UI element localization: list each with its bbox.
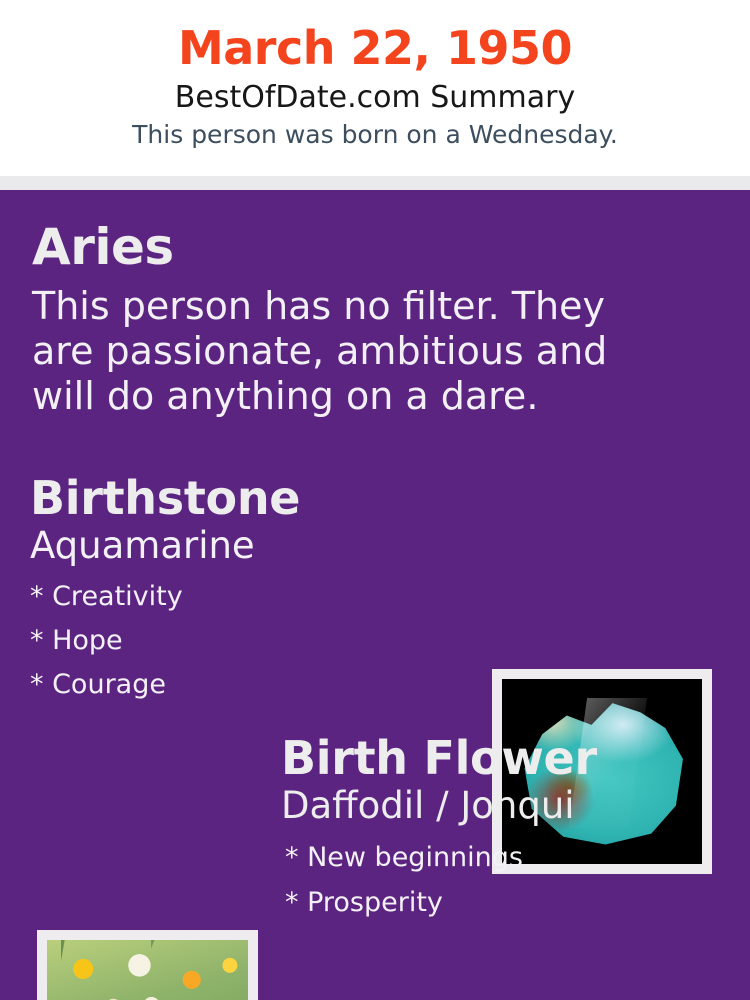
birth-day-note: This person was born on a Wednesday. — [0, 114, 750, 149]
birth-flower-title: Birth Flower — [281, 735, 731, 781]
page-title-date: March 22, 1950 — [0, 0, 750, 72]
daffodil-stems — [47, 940, 248, 1000]
birth-flower-image — [47, 940, 248, 1000]
list-item: * New beginnings — [281, 826, 731, 871]
birth-flower-trait-list: * New beginnings * Prosperity — [281, 826, 731, 916]
list-item: * Hope — [30, 610, 480, 654]
birthstone-section: Birthstone Aquamarine * Creativity * Hop… — [30, 475, 480, 698]
list-item: * Courage — [30, 654, 480, 698]
birthstone-title: Birthstone — [30, 475, 480, 521]
birth-flower-name: Daffodil / Jonqui — [281, 781, 731, 826]
birthday-summary-card: March 22, 1950 BestOfDate.com Summary Th… — [0, 0, 750, 1000]
zodiac-description: This person has no filter. They are pass… — [32, 272, 647, 418]
header: March 22, 1950 BestOfDate.com Summary Th… — [0, 0, 750, 176]
content-panel: Aries This person has no filter. They ar… — [0, 190, 750, 1000]
zodiac-sign-title: Aries — [32, 222, 672, 272]
list-item: * Prosperity — [281, 871, 731, 916]
birthstone-trait-list: * Creativity * Hope * Courage — [30, 566, 480, 698]
header-divider — [0, 176, 750, 190]
zodiac-section: Aries This person has no filter. They ar… — [32, 222, 672, 418]
site-summary-label: BestOfDate.com Summary — [0, 72, 750, 114]
birth-flower-image-frame — [37, 930, 258, 1000]
birth-flower-section: Birth Flower Daffodil / Jonqui * New beg… — [281, 735, 731, 916]
birthstone-name: Aquamarine — [30, 521, 480, 566]
list-item: * Creativity — [30, 566, 480, 610]
